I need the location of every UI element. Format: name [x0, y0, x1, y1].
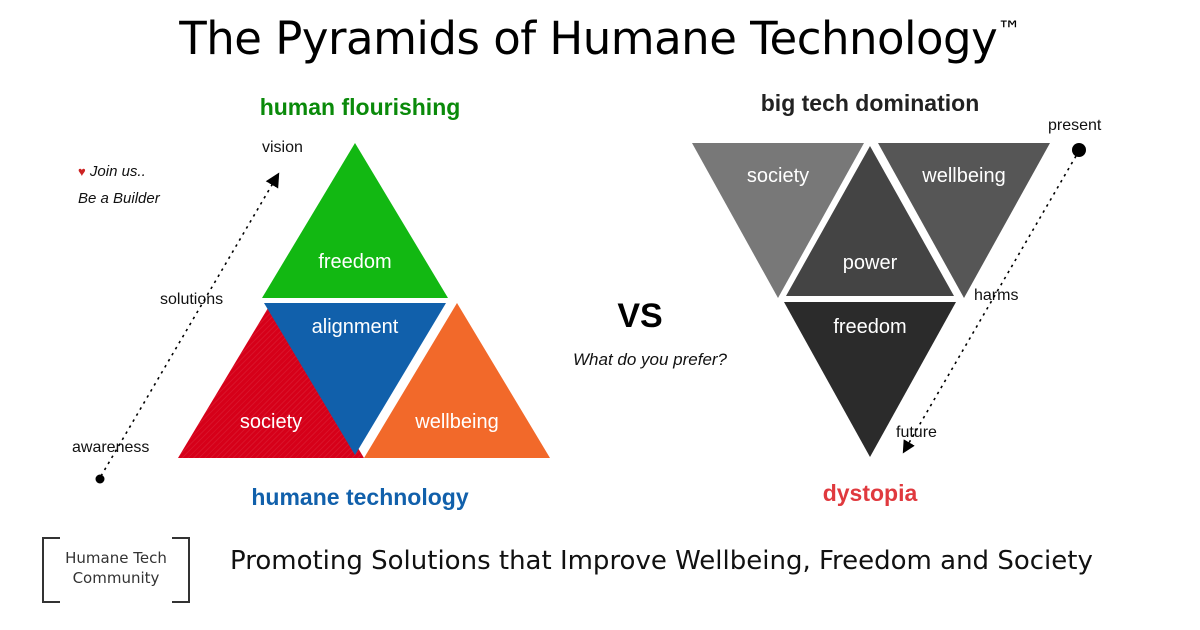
versus-label: VS [560, 297, 720, 336]
right-segment-freedom-label: freedom [784, 316, 956, 339]
left-pyramid-top-label: human flourishing [150, 94, 570, 121]
left-segment-freedom-label: freedom [262, 251, 448, 274]
right-axis-label-harms: harms [974, 287, 1018, 305]
versus-question: What do you prefer? [540, 350, 760, 370]
heart-icon: ♥ [78, 164, 86, 179]
left-axis-label-vision: vision [262, 139, 303, 157]
left-segment-freedom: freedom [262, 143, 448, 298]
page-title-text: The Pyramids of Humane Technology [179, 12, 997, 65]
join-us-line-2: Be a Builder [78, 185, 160, 212]
humane-tech-community-logo[interactable]: Humane Tech Community [42, 537, 190, 599]
logo-bracket-right [172, 537, 190, 603]
footer-tagline: Promoting Solutions that Improve Wellbei… [230, 546, 1093, 576]
right-axis-label-present: present [1048, 117, 1101, 135]
diagram-canvas: The Pyramids of Humane Technology™ human… [0, 0, 1200, 630]
logo-text: Humane Tech Community [65, 548, 167, 588]
join-us-text: Join us.. [90, 163, 146, 180]
left-axis-start-dot [96, 475, 105, 484]
right-segment-society-label: society [692, 165, 864, 188]
left-axis-label-awareness: awareness [72, 439, 149, 457]
right-segment-power-label: power [786, 252, 954, 275]
left-segment-wellbeing-label: wellbeing [364, 411, 550, 434]
logo-bracket-left [42, 537, 60, 603]
right-pyramid-top-label: big tech domination [650, 90, 1090, 117]
left-pyramid-bottom-label: humane technology [150, 484, 570, 511]
join-us-line-1: ♥ Join us.. [78, 158, 160, 185]
right-pyramid-bottom-label: dystopia [650, 480, 1090, 507]
logo-text-line-2: Community [65, 568, 167, 588]
right-axis-start-dot [1072, 143, 1086, 157]
trademark-symbol: ™ [997, 16, 1021, 44]
left-segment-alignment-label: alignment [264, 316, 446, 339]
join-us-callout[interactable]: ♥ Join us.. Be a Builder [78, 158, 160, 212]
page-title: The Pyramids of Humane Technology™ [0, 12, 1200, 65]
right-segment-wellbeing-label: wellbeing [878, 165, 1050, 188]
left-axis-label-solutions: solutions [160, 291, 223, 309]
logo-text-line-1: Humane Tech [65, 548, 167, 568]
right-axis-label-future: future [896, 424, 937, 442]
